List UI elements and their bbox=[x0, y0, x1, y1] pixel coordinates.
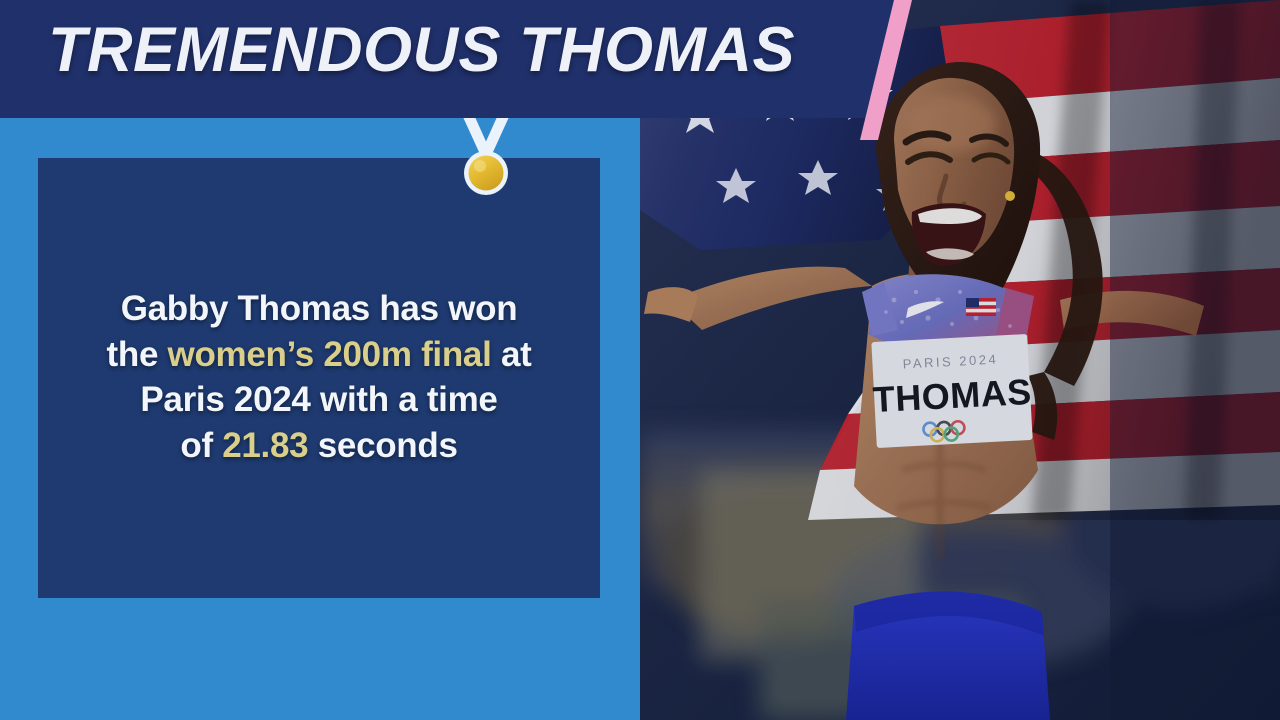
pink-accent-shape bbox=[852, 0, 912, 140]
fact-line-4-highlight: 21.83 bbox=[222, 426, 308, 465]
fact-line-3: Paris 2024 with a time bbox=[62, 377, 576, 423]
fact-line-2-highlight: women’s 200m final bbox=[168, 335, 492, 374]
fact-card-text: Gabby Thomas has won the women’s 200m fi… bbox=[38, 286, 600, 468]
fact-line-4-prefix: of bbox=[180, 426, 222, 465]
fact-line-1: Gabby Thomas has won bbox=[62, 286, 576, 332]
header-bar: TREMENDOUS THOMAS bbox=[0, 0, 900, 118]
fact-line-4-suffix: seconds bbox=[308, 426, 457, 465]
fact-line-1-text: Gabby Thomas has won bbox=[121, 289, 518, 328]
fact-card: Gabby Thomas has won the women’s 200m fi… bbox=[38, 158, 600, 598]
gold-medal-icon bbox=[455, 113, 517, 199]
page-title: TREMENDOUS THOMAS bbox=[48, 14, 795, 86]
fact-line-2-prefix: the bbox=[107, 335, 168, 374]
fact-line-3-text: Paris 2024 with a time bbox=[140, 380, 497, 419]
fact-line-2: the women’s 200m final at bbox=[62, 332, 576, 378]
gold-medal-graphic bbox=[455, 113, 517, 199]
pink-accent-stripe bbox=[852, 0, 912, 140]
fact-line-4: of 21.83 seconds bbox=[62, 423, 576, 469]
fact-line-2-suffix: at bbox=[492, 335, 532, 374]
graphic-stage: PARIS 2024 THOMAS bbox=[0, 0, 1280, 720]
